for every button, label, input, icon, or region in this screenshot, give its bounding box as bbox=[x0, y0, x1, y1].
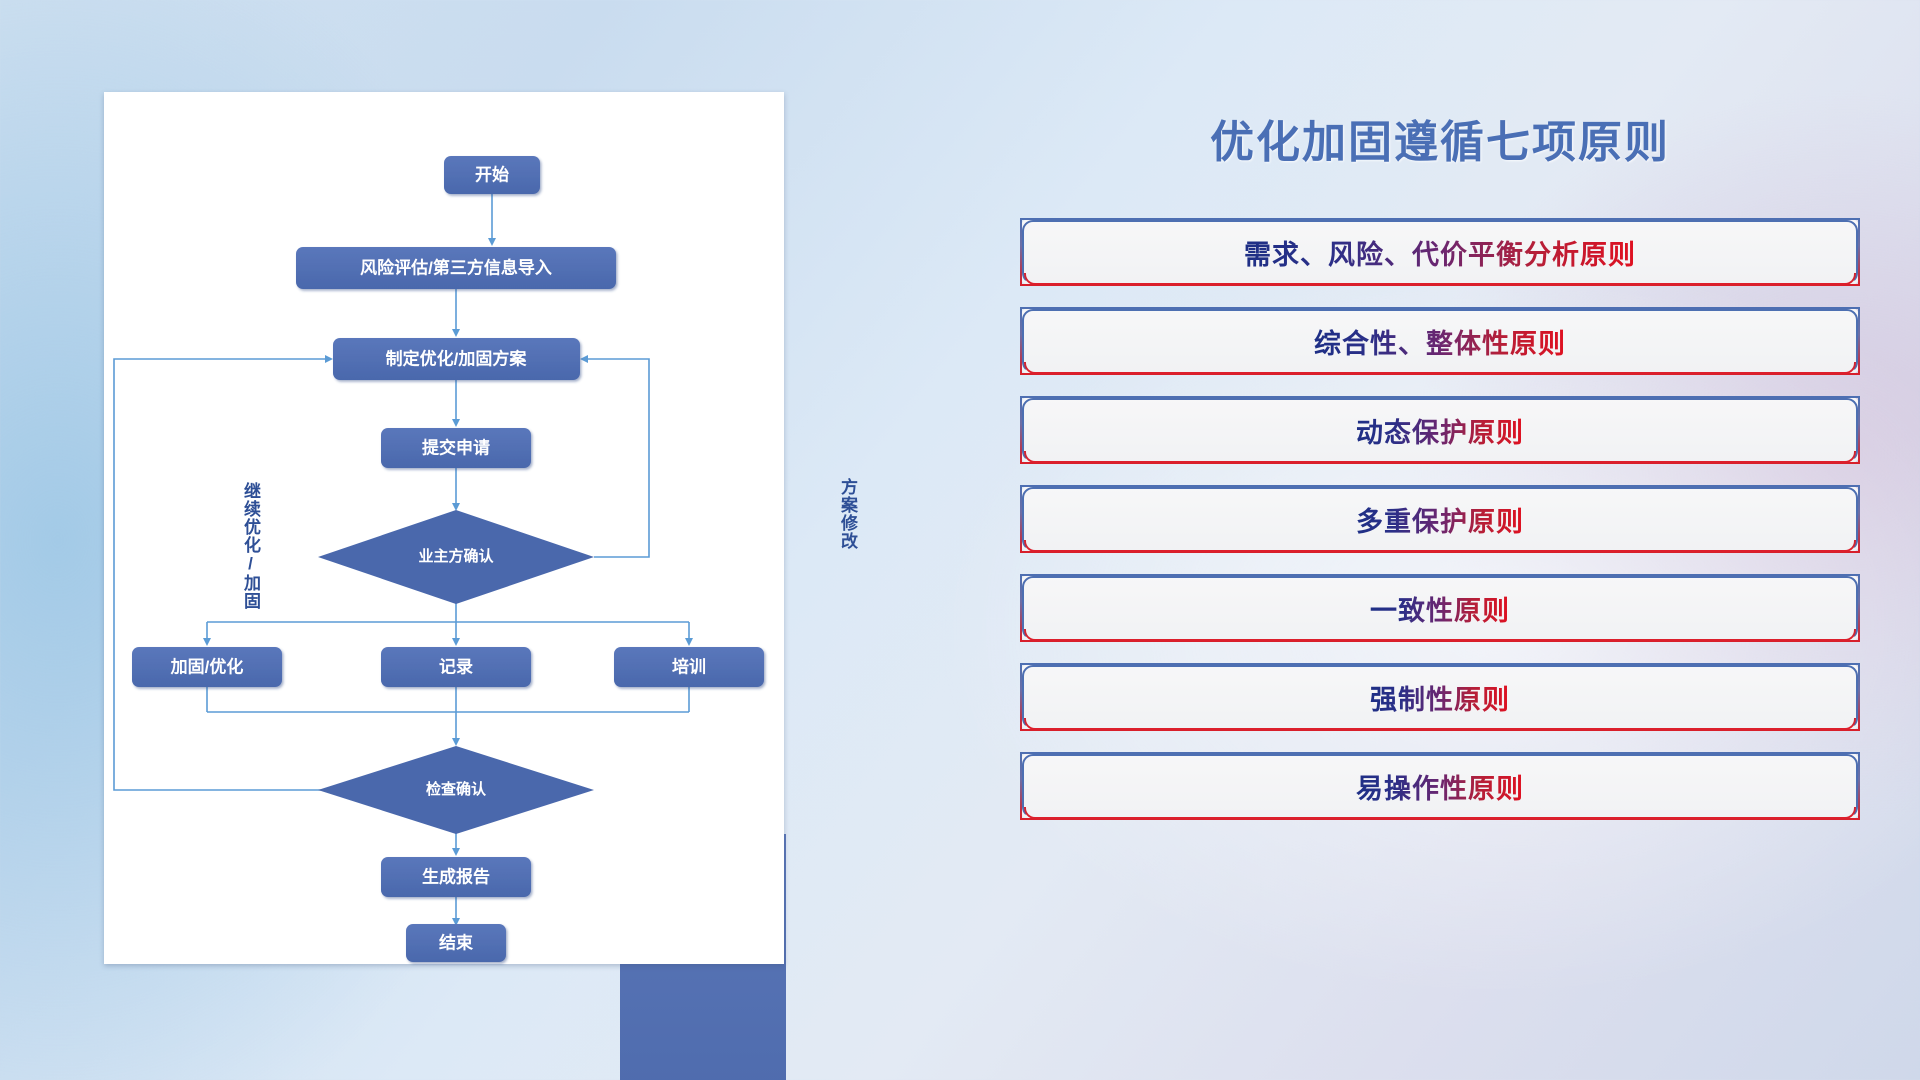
card-bottom-accent bbox=[1024, 807, 1856, 819]
node-risk-label: 风险评估/第三方信息导入 bbox=[360, 257, 552, 277]
node-harden-optimize: 加固/优化 bbox=[132, 647, 282, 687]
principles-title: 优化加固遵循七项原则 bbox=[1020, 106, 1860, 170]
principle-card[interactable]: 易操作性原则 bbox=[1020, 752, 1860, 820]
principle-label: 易操作性原则 bbox=[1356, 767, 1524, 806]
card-bottom-accent bbox=[1024, 273, 1856, 285]
principle-label: 动态保护原则 bbox=[1356, 411, 1524, 450]
node-start: 开始 bbox=[444, 156, 540, 194]
edge-label-continue-optimize: 继续优化/加固 bbox=[242, 482, 259, 610]
node-record-label: 记录 bbox=[439, 657, 473, 676]
card-bottom-accent bbox=[1024, 540, 1856, 552]
principle-label: 需求、风险、代价平衡分析原则 bbox=[1244, 233, 1636, 272]
principles-panel: 优化加固遵循七项原则 需求、风险、代价平衡分析原则 综合性、整体性原则 动态保护… bbox=[1020, 92, 1860, 1012]
node-record: 记录 bbox=[381, 647, 531, 687]
node-harden-label: 加固/优化 bbox=[170, 656, 244, 676]
node-make-plan: 制定优化/加固方案 bbox=[333, 338, 580, 380]
node-training: 培训 bbox=[614, 647, 764, 687]
card-bottom-accent bbox=[1024, 718, 1856, 730]
node-owner-label: 业主方确认 bbox=[418, 547, 494, 565]
node-check-label: 检查确认 bbox=[426, 780, 487, 798]
node-risk-assessment: 风险评估/第三方信息导入 bbox=[296, 247, 616, 289]
node-owner-confirm: 业主方确认 bbox=[318, 510, 594, 604]
node-start-label: 开始 bbox=[475, 164, 509, 184]
principle-label: 多重保护原则 bbox=[1356, 500, 1524, 539]
node-generate-report: 生成报告 bbox=[381, 857, 531, 897]
principle-card[interactable]: 多重保护原则 bbox=[1020, 485, 1860, 553]
flowchart-graphic: 开始 风险评估/第三方信息导入 制定优化/加固方案 提交申请 业主方确认 加固/ bbox=[104, 92, 784, 972]
node-end: 结束 bbox=[406, 924, 506, 962]
flow-nodes: 开始 风险评估/第三方信息导入 制定优化/加固方案 提交申请 业主方确认 加固/ bbox=[132, 156, 764, 962]
principle-card[interactable]: 强制性原则 bbox=[1020, 663, 1860, 731]
edge-label-plan-revision: 方案修改 bbox=[839, 478, 856, 550]
card-bottom-accent bbox=[1024, 362, 1856, 374]
node-submit-label: 提交申请 bbox=[422, 437, 490, 457]
node-plan-label: 制定优化/加固方案 bbox=[386, 348, 528, 368]
principle-label: 综合性、整体性原则 bbox=[1314, 322, 1566, 361]
principle-label: 强制性原则 bbox=[1370, 678, 1510, 717]
flowchart-panel: 开始 风险评估/第三方信息导入 制定优化/加固方案 提交申请 业主方确认 加固/ bbox=[104, 92, 786, 986]
card-bottom-accent bbox=[1024, 451, 1856, 463]
node-report-label: 生成报告 bbox=[422, 866, 490, 886]
principle-card[interactable]: 一致性原则 bbox=[1020, 574, 1860, 642]
node-submit-application: 提交申请 bbox=[381, 428, 531, 468]
card-bottom-accent bbox=[1024, 629, 1856, 641]
node-end-label: 结束 bbox=[439, 932, 473, 952]
principle-card[interactable]: 需求、风险、代价平衡分析原则 bbox=[1020, 218, 1860, 286]
principle-card[interactable]: 动态保护原则 bbox=[1020, 396, 1860, 464]
principles-list: 需求、风险、代价平衡分析原则 综合性、整体性原则 动态保护原则 多重保护原则 一… bbox=[1020, 218, 1860, 820]
principle-label: 一致性原则 bbox=[1370, 589, 1510, 628]
principle-card[interactable]: 综合性、整体性原则 bbox=[1020, 307, 1860, 375]
node-check-confirm: 检查确认 bbox=[318, 746, 594, 834]
node-training-label: 培训 bbox=[672, 656, 706, 676]
